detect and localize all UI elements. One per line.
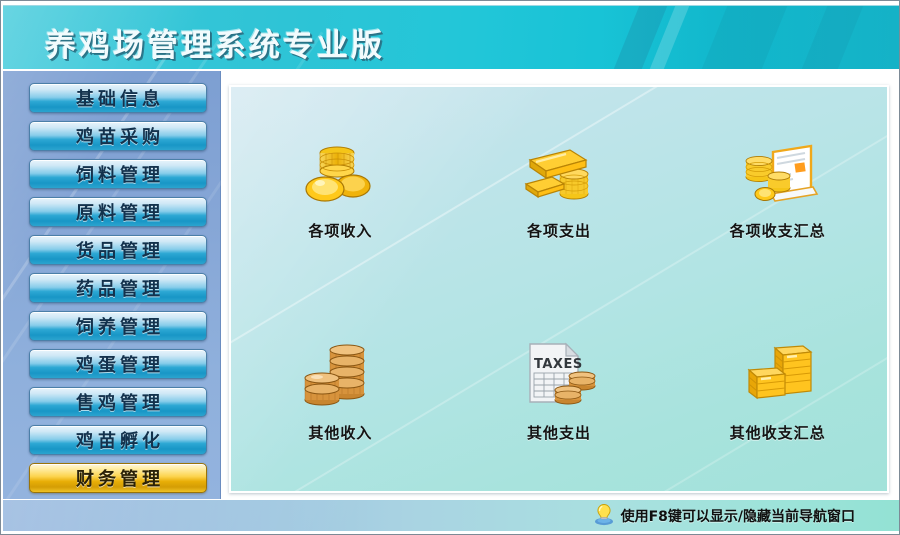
sidebar-item-label: 货品管理 — [72, 237, 164, 263]
sidebar-item-label: 饲料管理 — [72, 161, 164, 187]
taxes-document-coins-icon: TAXES — [516, 338, 602, 414]
sidebar-item-label: 基础信息 — [72, 85, 164, 111]
icon-other-income[interactable]: 其他收入 — [231, 289, 450, 491]
bronze-coin-stacks-icon — [297, 338, 383, 414]
content-panel: 各项收入 各项支出 — [229, 85, 889, 493]
module-icon-grid: 各项收入 各项支出 — [231, 87, 887, 491]
application-window: 养鸡场管理系统专业版 基础信息鸡苗采购饲料管理原料管理货品管理药品管理饲养管理鸡… — [0, 0, 900, 535]
icon-various-expense[interactable]: 各项支出 — [450, 87, 669, 289]
sidebar-item-egg-mgmt[interactable]: 鸡蛋管理 — [29, 349, 207, 379]
page-title: 养鸡场管理系统专业版 — [45, 20, 385, 65]
sidebar-item-label: 药品管理 — [72, 275, 164, 301]
sidebar-item-label: 鸡蛋管理 — [72, 351, 164, 377]
sidebar-item-label: 鸡苗采购 — [72, 123, 164, 149]
sidebar-item-breeding-mgmt[interactable]: 饲养管理 — [29, 311, 207, 341]
gold-bars-coins-icon — [516, 136, 602, 212]
sidebar-item-label: 鸡苗孵化 — [72, 427, 164, 453]
icon-various-income[interactable]: 各项收入 — [231, 87, 450, 289]
module-icon-label: 其他收支汇总 — [730, 422, 826, 443]
sidebar-item-medicine-mgmt[interactable]: 药品管理 — [29, 273, 207, 303]
icon-other-summary[interactable]: 其他收支汇总 — [668, 289, 887, 491]
gold-ingots-icon — [735, 338, 821, 414]
sidebar-item-label: 售鸡管理 — [72, 389, 164, 415]
module-icon-label: 其他支出 — [527, 422, 591, 443]
module-icon-label: 各项支出 — [527, 220, 591, 241]
banner-shade — [599, 6, 899, 69]
status-hint-text: 使用F8键可以显示/隐藏当前导航窗口 — [621, 506, 855, 526]
status-bar: 使用F8键可以显示/隐藏当前导航窗口 — [3, 499, 899, 531]
sidebar-item-basic-info[interactable]: 基础信息 — [29, 83, 207, 113]
sidebar-item-label: 饲养管理 — [72, 313, 164, 339]
sidebar-item-label: 财务管理 — [72, 465, 164, 491]
coins-stack-icon — [297, 136, 383, 212]
lightbulb-icon — [593, 502, 615, 530]
navigation-sidebar: 基础信息鸡苗采购饲料管理原料管理货品管理药品管理饲养管理鸡蛋管理售鸡管理鸡苗孵化… — [3, 71, 221, 499]
keyboard-hint: 使用F8键可以显示/隐藏当前导航窗口 — [593, 502, 855, 530]
module-icon-label: 各项收入 — [308, 220, 372, 241]
icon-income-expense-summary[interactable]: 各项收支汇总 — [668, 87, 887, 289]
sidebar-item-chick-purchase[interactable]: 鸡苗采购 — [29, 121, 207, 151]
icon-other-expense[interactable]: TAXES 其他支出 — [450, 289, 669, 491]
module-icon-label: 其他收入 — [308, 422, 372, 443]
title-banner: 养鸡场管理系统专业版 — [3, 5, 899, 69]
svg-text:TAXES: TAXES — [534, 357, 583, 372]
sidebar-item-finance-mgmt[interactable]: 财务管理 — [29, 463, 207, 493]
sidebar-item-hatching[interactable]: 鸡苗孵化 — [29, 425, 207, 455]
module-icon-label: 各项收支汇总 — [730, 220, 826, 241]
sidebar-item-feed-mgmt[interactable]: 饲料管理 — [29, 159, 207, 189]
sidebar-item-goods-mgmt[interactable]: 货品管理 — [29, 235, 207, 265]
sidebar-item-label: 原料管理 — [72, 199, 164, 225]
sidebar-item-material-mgmt[interactable]: 原料管理 — [29, 197, 207, 227]
coins-document-icon — [735, 136, 821, 212]
sidebar-item-sales-mgmt[interactable]: 售鸡管理 — [29, 387, 207, 417]
